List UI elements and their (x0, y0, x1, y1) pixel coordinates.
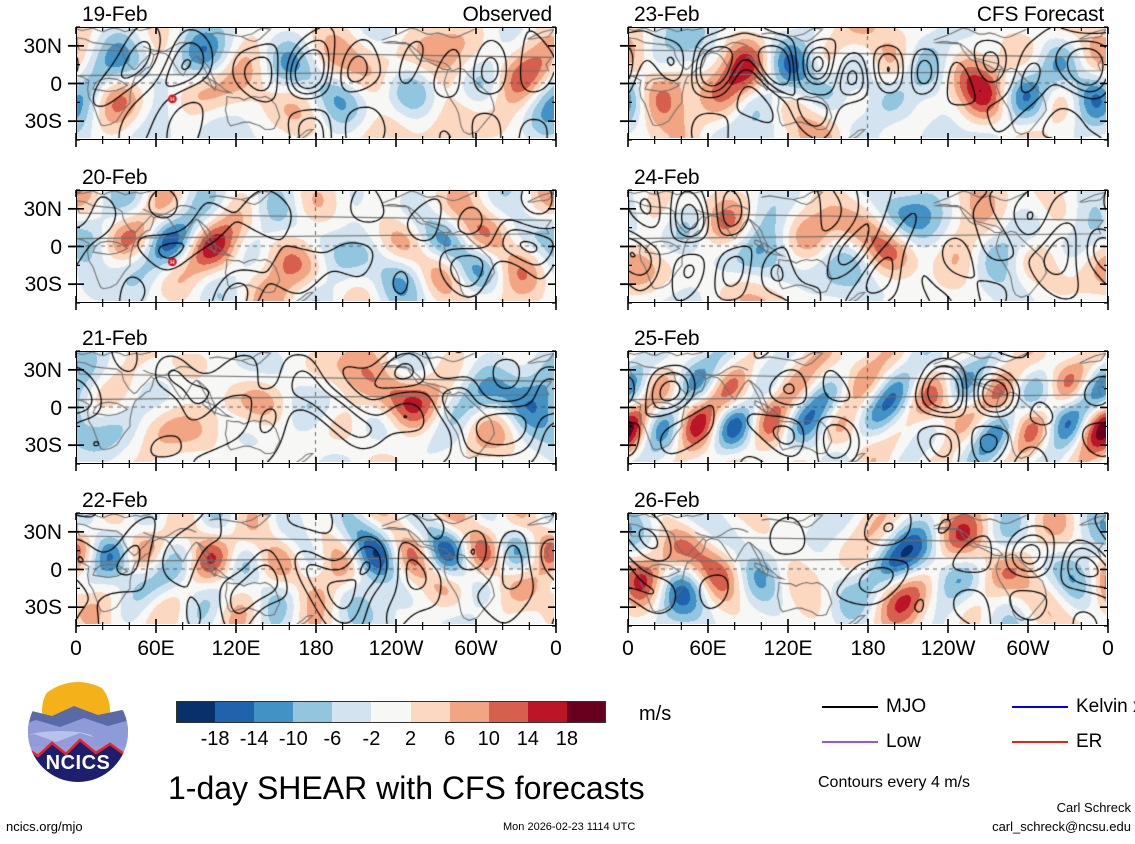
legend-line-swatch (822, 741, 878, 743)
lat-tick-label: 30N (0, 36, 62, 57)
ncics-logo-text: NCICS (12, 752, 144, 775)
generated-timestamp: Mon 2026-02-23 1114 UTC (503, 822, 635, 833)
map-field-canvas (629, 28, 1106, 138)
legend-line-swatch (822, 706, 878, 708)
panel-date-label: 26-Feb (634, 490, 699, 511)
lat-tick-label: 30S (0, 597, 62, 618)
map-panel-26-feb (628, 513, 1108, 626)
map-field-canvas (629, 191, 1106, 301)
map-field-canvas (629, 514, 1106, 624)
lon-tick-label: 0 (1063, 638, 1135, 659)
lon-tick-label: 120E (743, 638, 833, 659)
map-field-canvas (629, 352, 1106, 462)
legend-line-swatch (1012, 706, 1068, 708)
legend-label: Low (886, 732, 921, 751)
lon-tick-label: 180 (271, 638, 361, 659)
lat-tick-label: 0 (0, 74, 62, 95)
colorbar-units-label: m/s (639, 704, 671, 724)
colorbar-tick-label: 18 (537, 729, 597, 749)
lat-tick-label: 30S (0, 435, 62, 456)
lon-tick-label: 120E (191, 638, 281, 659)
map-panel-22-feb (76, 513, 556, 626)
lon-tick-label: 120W (351, 638, 441, 659)
map-panel-20-feb (76, 190, 556, 303)
lat-tick-label: 0 (0, 560, 62, 581)
figure-main-title: 1-day SHEAR with CFS forecasts (168, 772, 645, 804)
map-panel-23-feb (628, 27, 1108, 140)
legend-line-swatch (1012, 741, 1068, 743)
panel-date-label: 24-Feb (634, 167, 699, 188)
author-email-label[interactable]: carl_schreck@ncsu.edu (900, 820, 1131, 833)
column-header-forecast: CFS Forecast (628, 4, 1104, 25)
lat-tick-label: 30N (0, 360, 62, 381)
colorbar (176, 701, 606, 723)
panel-date-label: 20-Feb (82, 167, 147, 188)
lat-tick-label: 30N (0, 199, 62, 220)
legend-label: ER (1076, 732, 1102, 751)
lon-tick-label: 0 (31, 638, 121, 659)
lon-tick-label: 60W (431, 638, 521, 659)
lon-tick-label: 60W (983, 638, 1073, 659)
map-panel-24-feb (628, 190, 1108, 303)
lat-tick-label: 0 (0, 398, 62, 419)
site-url-label[interactable]: ncics.org/mjo (6, 820, 83, 833)
map-field-canvas (77, 514, 554, 624)
author-name-label: Carl Schreck (935, 801, 1131, 814)
lon-tick-label: 60E (111, 638, 201, 659)
map-panel-25-feb (628, 351, 1108, 464)
panel-date-label: 21-Feb (82, 328, 147, 349)
legend-label: MJO (886, 697, 926, 716)
lat-tick-label: 30N (0, 522, 62, 543)
ncics-logo[interactable]: NCICS (12, 680, 144, 784)
lat-tick-label: 30S (0, 274, 62, 295)
map-field-canvas (77, 191, 554, 301)
map-panel-19-feb (76, 27, 556, 140)
panel-date-label: 25-Feb (634, 328, 699, 349)
lon-tick-label: 60E (663, 638, 753, 659)
panel-date-label: 22-Feb (82, 490, 147, 511)
lat-tick-label: 0 (0, 237, 62, 258)
legend-label: Kelvin x2 (1076, 697, 1135, 716)
colorbar-box (176, 701, 606, 723)
map-field-canvas (77, 352, 554, 462)
lon-tick-label: 120W (903, 638, 993, 659)
lat-tick-label: 30S (0, 111, 62, 132)
lon-tick-label: 180 (823, 638, 913, 659)
contour-interval-note: Contours every 4 m/s (818, 775, 970, 791)
lon-tick-label: 0 (583, 638, 673, 659)
column-header-observed: Observed (76, 4, 552, 25)
map-field-canvas (77, 28, 554, 138)
map-panel-21-feb (76, 351, 556, 464)
